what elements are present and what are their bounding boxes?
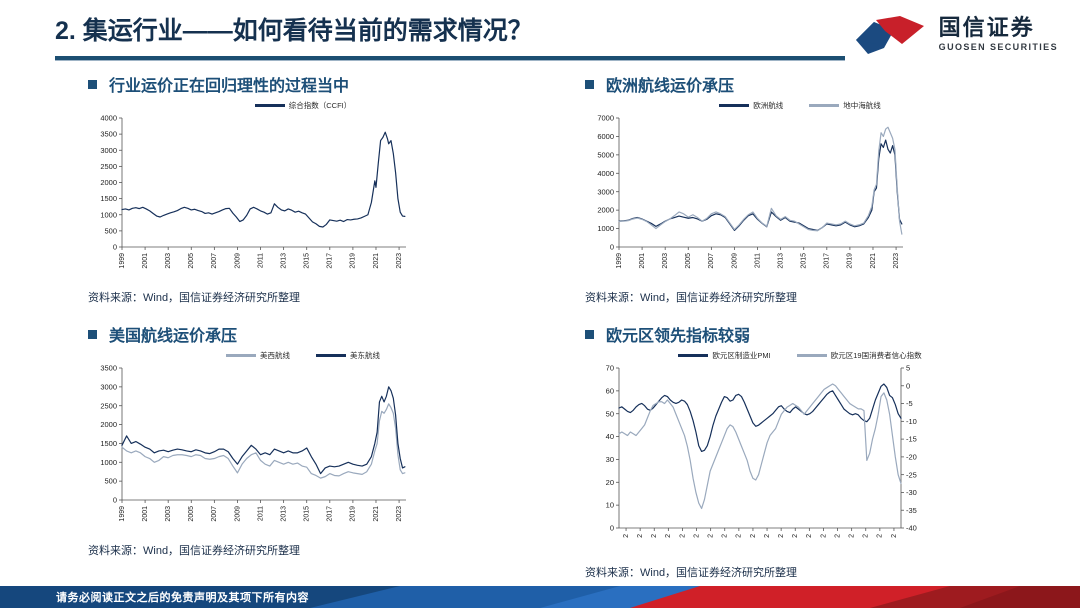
svg-text:1500: 1500	[100, 194, 117, 203]
panel-ccfi-title: 行业运价正在回归理性的过程当中	[109, 72, 349, 96]
logo-text: 国信证券 GUOSEN SECURITIES	[939, 17, 1058, 52]
svg-text:2: 2	[707, 534, 714, 538]
logo-name-en: GUOSEN SECURITIES	[939, 43, 1058, 52]
svg-text:1000: 1000	[100, 458, 117, 467]
svg-text:2021: 2021	[373, 506, 380, 522]
bullet-square-icon	[585, 80, 594, 89]
legend-swatch	[226, 354, 256, 356]
bullet-square-icon	[88, 80, 97, 89]
svg-text:-30: -30	[906, 488, 917, 497]
svg-text:2: 2	[623, 534, 630, 538]
svg-text:2009: 2009	[234, 506, 241, 522]
svg-text:5: 5	[906, 364, 910, 373]
svg-text:2005: 2005	[188, 506, 195, 522]
svg-text:4000: 4000	[100, 114, 117, 123]
chart-ccfi-legend: 综合指数（CCFI）	[88, 100, 518, 111]
chart-us-source: 资料来源：Wind，国信证券经济研究所整理	[88, 542, 518, 558]
svg-text:2: 2	[651, 534, 658, 538]
svg-text:2000: 2000	[100, 178, 117, 187]
svg-text:2015: 2015	[801, 253, 808, 269]
svg-text:2: 2	[736, 534, 743, 538]
footer-bar: 请务必阅读正文之后的免责声明及其项下所有内容	[0, 586, 1080, 608]
svg-text:2005: 2005	[685, 253, 692, 269]
legend-item: 欧元区制造业PMI	[678, 350, 770, 361]
chart-ccfi-canvas: 0500100015002000250030003500400019992001…	[88, 112, 418, 287]
svg-text:1999: 1999	[119, 506, 126, 522]
svg-text:2: 2	[679, 534, 686, 538]
svg-text:0: 0	[113, 243, 117, 252]
slide: 2. 集运行业——如何看待当前的需求情况？ 国信证券 GUOSEN SECURI…	[0, 0, 1080, 608]
svg-text:2013: 2013	[280, 506, 287, 522]
chart-ccfi: 综合指数（CCFI） 05001000150020002500300035004…	[88, 100, 518, 305]
svg-text:2: 2	[665, 534, 672, 538]
svg-text:1999: 1999	[616, 253, 623, 269]
svg-text:2023: 2023	[396, 506, 403, 522]
page-title-wrap: 2. 集运行业——如何看待当前的需求情况？	[55, 14, 845, 48]
legend-swatch	[316, 354, 346, 356]
svg-text:2017: 2017	[327, 253, 334, 269]
svg-text:2: 2	[877, 534, 884, 538]
svg-text:50: 50	[606, 409, 614, 418]
chart-ccfi-source: 资料来源：Wind，国信证券经济研究所整理	[88, 289, 518, 305]
svg-text:-15: -15	[906, 435, 917, 444]
svg-text:7000: 7000	[597, 114, 614, 123]
bullet-square-icon	[88, 330, 97, 339]
svg-text:2023: 2023	[396, 253, 403, 269]
svg-text:3000: 3000	[100, 382, 117, 391]
legend-swatch	[678, 354, 708, 356]
chart-europe-legend: 欧洲航线 地中海航线	[585, 100, 1015, 111]
svg-text:2: 2	[750, 534, 757, 538]
svg-text:2000: 2000	[597, 206, 614, 215]
svg-text:2007: 2007	[708, 253, 715, 269]
svg-text:2: 2	[863, 534, 870, 538]
legend-label: 美西航线	[260, 350, 290, 361]
svg-text:2011: 2011	[257, 253, 264, 268]
svg-text:2000: 2000	[100, 420, 117, 429]
svg-text:6000: 6000	[597, 132, 614, 141]
svg-text:2: 2	[806, 534, 813, 538]
svg-text:2007: 2007	[211, 506, 218, 522]
svg-text:2021: 2021	[373, 253, 380, 269]
svg-text:-35: -35	[906, 506, 917, 515]
svg-text:2: 2	[834, 534, 841, 538]
svg-text:1500: 1500	[100, 439, 117, 448]
panel-ccfi-head: 行业运价正在回归理性的过程当中	[88, 72, 518, 96]
svg-text:2017: 2017	[824, 253, 831, 269]
legend-label: 综合指数（CCFI）	[289, 100, 352, 111]
chart-us: 美西航线 美东航线 050010001500200025003000350019…	[88, 350, 518, 558]
svg-text:3000: 3000	[100, 146, 117, 155]
svg-text:2009: 2009	[731, 253, 738, 269]
panel-us-head: 美国航线运价承压	[88, 322, 518, 346]
legend-item: 美东航线	[316, 350, 380, 361]
logo-mark-icon	[854, 12, 930, 56]
legend-label: 欧洲航线	[753, 100, 783, 111]
svg-text:70: 70	[606, 364, 614, 373]
chart-eurozone-source: 资料来源：Wind，国信证券经济研究所整理	[585, 564, 1015, 580]
svg-text:2011: 2011	[754, 253, 761, 268]
chart-us-legend: 美西航线 美东航线	[88, 350, 518, 361]
svg-text:5000: 5000	[597, 150, 614, 159]
svg-text:2015: 2015	[304, 253, 311, 269]
title-underline	[55, 56, 845, 60]
svg-text:3500: 3500	[100, 364, 117, 373]
panel-europe-title: 欧洲航线运价承压	[606, 72, 734, 96]
svg-text:2019: 2019	[350, 253, 357, 269]
svg-text:30: 30	[606, 455, 614, 464]
bullet-square-icon	[585, 330, 594, 339]
panel-europe: 欧洲航线运价承压 欧洲航线 地中海航线 01000200030004000500…	[585, 72, 1015, 305]
svg-text:2: 2	[693, 534, 700, 538]
svg-text:0: 0	[610, 524, 614, 533]
svg-text:2: 2	[848, 534, 855, 538]
chart-eurozone: 欧元区制造业PMI 欧元区19国消费者信心指数 010203040506070-…	[585, 350, 1015, 580]
svg-text:2007: 2007	[211, 253, 218, 269]
svg-text:-5: -5	[906, 399, 913, 408]
company-logo: 国信证券 GUOSEN SECURITIES	[854, 12, 1058, 56]
chart-europe-canvas: 0100020003000400050006000700019992001200…	[585, 112, 915, 287]
svg-text:3000: 3000	[597, 187, 614, 196]
svg-text:2001: 2001	[639, 253, 646, 269]
svg-text:40: 40	[606, 432, 614, 441]
legend-swatch	[255, 104, 285, 106]
svg-text:2011: 2011	[257, 506, 264, 521]
svg-text:2: 2	[820, 534, 827, 538]
svg-text:2: 2	[722, 534, 729, 538]
panel-europe-head: 欧洲航线运价承压	[585, 72, 1015, 96]
svg-text:2023: 2023	[893, 253, 900, 269]
svg-text:0: 0	[906, 381, 910, 390]
svg-text:2021: 2021	[870, 253, 877, 269]
svg-text:60: 60	[606, 386, 614, 395]
legend-label: 地中海航线	[843, 100, 881, 111]
panel-us-title: 美国航线运价承压	[109, 322, 237, 346]
svg-text:3500: 3500	[100, 130, 117, 139]
svg-text:2005: 2005	[188, 253, 195, 269]
svg-text:2500: 2500	[100, 401, 117, 410]
chart-eurozone-canvas: 010203040506070-40-35-30-25-20-15-10-505…	[585, 362, 935, 562]
legend-label: 美东航线	[350, 350, 380, 361]
svg-text:1000: 1000	[100, 210, 117, 219]
svg-text:4000: 4000	[597, 169, 614, 178]
svg-text:2013: 2013	[777, 253, 784, 269]
svg-text:2015: 2015	[304, 506, 311, 522]
svg-text:2: 2	[764, 534, 771, 538]
panel-ccfi: 行业运价正在回归理性的过程当中 综合指数（CCFI） 0500100015002…	[88, 72, 518, 305]
svg-text:1999: 1999	[119, 253, 126, 269]
svg-text:10: 10	[606, 501, 614, 510]
legend-swatch	[809, 104, 839, 106]
svg-text:2: 2	[891, 534, 898, 538]
legend-item: 欧元区19国消费者信心指数	[797, 350, 922, 361]
footer-disclaimer: 请务必阅读正文之后的免责声明及其项下所有内容	[0, 586, 1080, 608]
svg-text:-10: -10	[906, 417, 917, 426]
svg-text:2001: 2001	[142, 506, 149, 522]
svg-text:2009: 2009	[234, 253, 241, 269]
svg-text:-40: -40	[906, 524, 917, 533]
svg-text:2: 2	[778, 534, 785, 538]
svg-text:2019: 2019	[847, 253, 854, 269]
chart-us-canvas: 0500100015002000250030003500199920012003…	[88, 362, 418, 540]
svg-text:2: 2	[792, 534, 799, 538]
legend-item: 综合指数（CCFI）	[255, 100, 352, 111]
legend-swatch	[797, 354, 827, 356]
legend-item: 美西航线	[226, 350, 290, 361]
chart-europe: 欧洲航线 地中海航线 01000200030004000500060007000…	[585, 100, 1015, 305]
svg-text:0: 0	[610, 243, 614, 252]
svg-text:500: 500	[104, 477, 117, 486]
svg-text:2003: 2003	[165, 253, 172, 269]
panel-us: 美国航线运价承压 美西航线 美东航线 050010001500200025003…	[88, 322, 518, 558]
svg-text:1000: 1000	[597, 224, 614, 233]
legend-item: 欧洲航线	[719, 100, 783, 111]
chart-europe-source: 资料来源：Wind，国信证券经济研究所整理	[585, 289, 1015, 305]
legend-swatch	[719, 104, 749, 106]
svg-text:500: 500	[104, 226, 117, 235]
svg-text:2: 2	[637, 534, 644, 538]
svg-text:-20: -20	[906, 452, 917, 461]
panel-eurozone: 欧元区领先指标较弱 欧元区制造业PMI 欧元区19国消费者信心指数 010203…	[585, 322, 1015, 580]
svg-text:2003: 2003	[165, 506, 172, 522]
legend-item: 地中海航线	[809, 100, 881, 111]
logo-name-cn: 国信证券	[939, 17, 1035, 39]
svg-text:2017: 2017	[327, 506, 334, 522]
panel-eurozone-title: 欧元区领先指标较弱	[606, 322, 750, 346]
panel-eurozone-head: 欧元区领先指标较弱	[585, 322, 1015, 346]
svg-text:2001: 2001	[142, 253, 149, 269]
svg-text:2019: 2019	[350, 506, 357, 522]
svg-text:-25: -25	[906, 470, 917, 479]
svg-text:0: 0	[113, 496, 117, 505]
legend-label: 欧元区制造业PMI	[712, 350, 770, 361]
legend-label: 欧元区19国消费者信心指数	[831, 350, 922, 361]
chart-eurozone-legend: 欧元区制造业PMI 欧元区19国消费者信心指数	[585, 350, 1015, 361]
svg-text:20: 20	[606, 478, 614, 487]
svg-text:2500: 2500	[100, 162, 117, 171]
svg-text:2003: 2003	[662, 253, 669, 269]
page-title: 2. 集运行业——如何看待当前的需求情况？	[55, 14, 845, 48]
svg-text:2013: 2013	[280, 253, 287, 269]
